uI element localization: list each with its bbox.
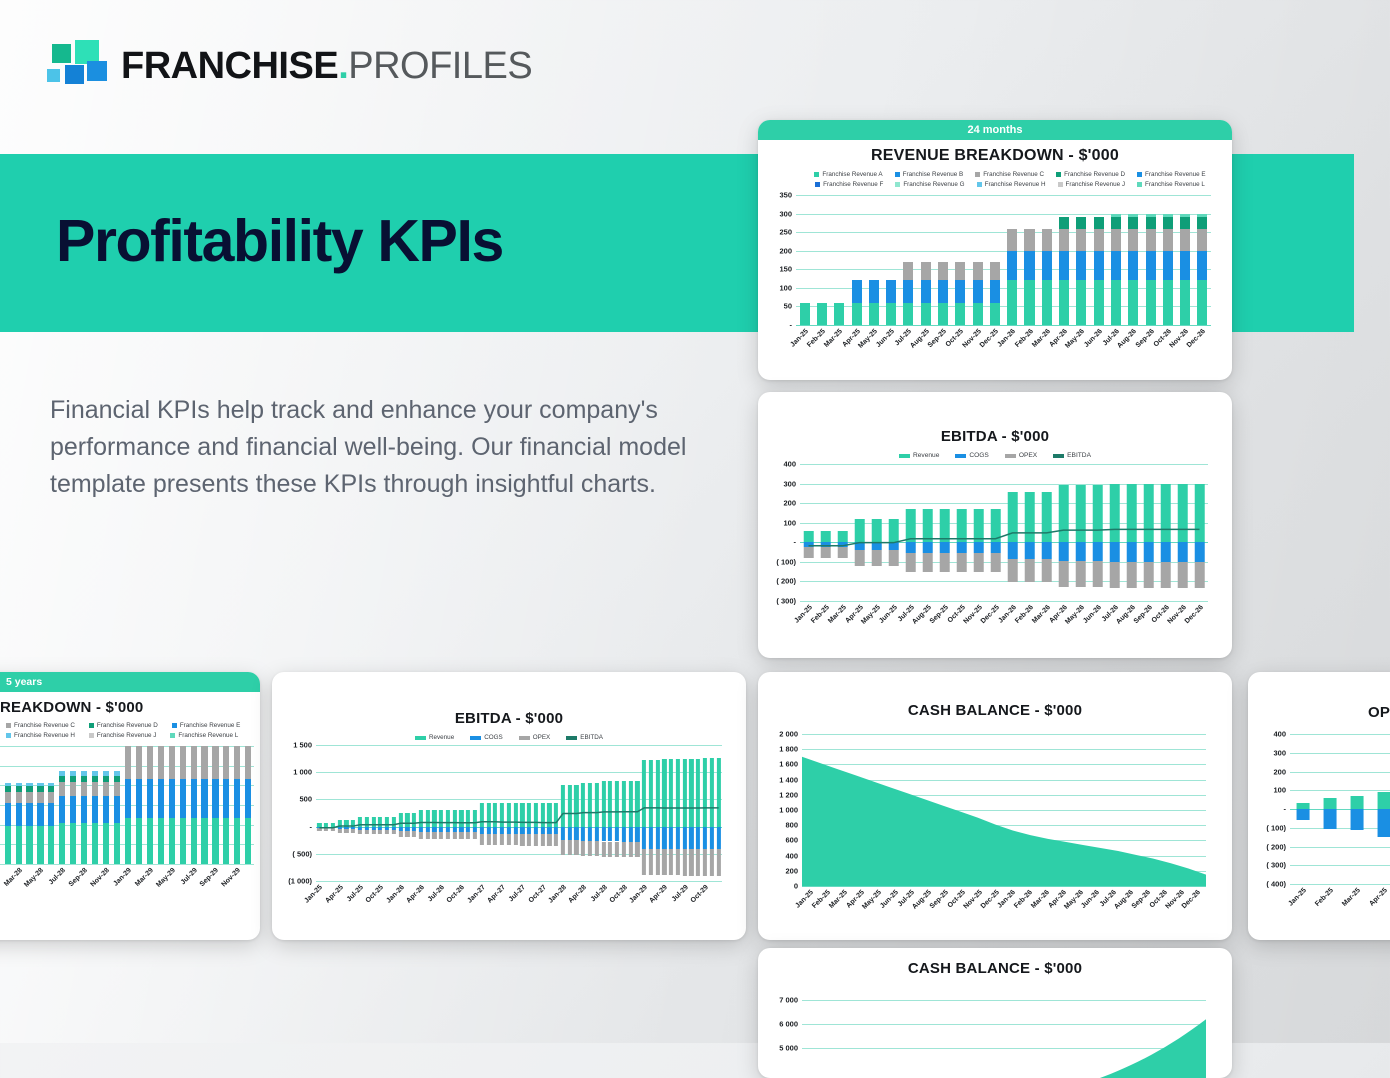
chart-legend: RevenueCOGSOPEXEBITDA bbox=[758, 452, 1232, 459]
x-tick-label: Jan-25 bbox=[304, 884, 325, 905]
bar-column bbox=[1177, 195, 1194, 325]
bar-column bbox=[969, 195, 986, 325]
bar-segment bbox=[1146, 229, 1156, 251]
x-tick-label: Sep-29 bbox=[199, 867, 220, 888]
y-tick-label: 400 bbox=[1273, 730, 1286, 739]
legend-item: Franchise Revenue F bbox=[815, 181, 883, 188]
bar-segment bbox=[81, 782, 87, 796]
bar-column bbox=[934, 195, 951, 325]
bar-column bbox=[1021, 195, 1038, 325]
bar-segment bbox=[136, 818, 142, 864]
bar-column bbox=[1038, 195, 1055, 325]
x-tick-label: Apr-27 bbox=[486, 884, 507, 905]
legend-item: COGS bbox=[470, 734, 503, 741]
bar-column bbox=[900, 195, 917, 325]
bar-segment bbox=[201, 779, 207, 818]
bar-segment bbox=[869, 280, 879, 302]
legend-label: EBITDA bbox=[580, 734, 603, 741]
bar-segment bbox=[1163, 229, 1173, 251]
bar-column bbox=[221, 746, 232, 864]
chart-title: OPE bbox=[1248, 704, 1390, 721]
bar-column bbox=[57, 746, 68, 864]
bar-column bbox=[90, 746, 101, 864]
legend-item: Franchise Revenue A bbox=[814, 171, 882, 178]
x-tick-label: Nov-28 bbox=[90, 867, 111, 888]
bar-segment bbox=[191, 746, 197, 779]
chart-plot: 400300200100-( 100)( 200)( 300)( 400)Jan… bbox=[1290, 734, 1390, 884]
chart-title: EBITDA - $'000 bbox=[758, 428, 1232, 445]
x-tick-label: Mar-25 bbox=[1341, 887, 1362, 908]
bar-segment bbox=[26, 803, 32, 827]
bar-column bbox=[1090, 195, 1107, 325]
bar-segment bbox=[48, 826, 54, 864]
legend-item: Franchise Revenue L bbox=[170, 732, 238, 739]
bar-segment bbox=[1297, 809, 1310, 820]
x-tick-label: Jan-28 bbox=[547, 884, 568, 905]
legend-label: Revenue bbox=[429, 734, 454, 741]
brand-name-dot: . bbox=[338, 45, 348, 87]
bar-segment bbox=[1007, 251, 1017, 281]
brand-name-light: PROFILES bbox=[348, 45, 532, 87]
legend-item: Franchise Revenue C bbox=[6, 722, 75, 729]
bar-segment bbox=[5, 803, 11, 827]
x-tick-label: Apr-25 bbox=[324, 884, 345, 905]
y-tick-label: ( 400) bbox=[1266, 880, 1286, 889]
x-tick-label: Sep-28 bbox=[68, 867, 89, 888]
bar-segment bbox=[1111, 280, 1121, 325]
bar-segment bbox=[103, 782, 109, 796]
bar-segment bbox=[1111, 217, 1121, 230]
bar-column bbox=[1317, 734, 1344, 884]
bar-column bbox=[1055, 195, 1072, 325]
legend-label: Franchise Revenue L bbox=[1145, 181, 1205, 188]
bar-segment bbox=[180, 746, 186, 779]
legend-item: Franchise Revenue D bbox=[1056, 171, 1125, 178]
bar-column bbox=[1125, 195, 1142, 325]
bar-column bbox=[35, 746, 46, 864]
bar-segment bbox=[1180, 229, 1190, 251]
bar-segment bbox=[16, 792, 22, 803]
bar-segment bbox=[938, 262, 948, 281]
bar-column bbox=[882, 195, 899, 325]
bar-segment bbox=[955, 303, 965, 325]
y-tick-label: - bbox=[1284, 805, 1287, 814]
bar-segment bbox=[234, 818, 240, 864]
legend-item: Franchise Revenue H bbox=[6, 732, 75, 739]
brand-logo: FRANCHISE.PROFILES bbox=[47, 40, 532, 92]
legend-swatch bbox=[955, 454, 966, 458]
x-tick-label: Jan-26 bbox=[997, 328, 1018, 349]
legend-item: OPEX bbox=[1005, 452, 1037, 459]
bar-segment bbox=[1076, 251, 1086, 281]
x-tick-label: Oct-28 bbox=[608, 884, 628, 904]
bar-segment bbox=[5, 826, 11, 864]
y-tick-label: 200 bbox=[1273, 767, 1286, 776]
bar-segment bbox=[869, 303, 879, 325]
y-tick-label: ( 100) bbox=[776, 557, 796, 566]
bar-column bbox=[188, 746, 199, 864]
y-tick-label: 50 bbox=[784, 302, 792, 311]
x-tick-label: Mar-28 bbox=[3, 867, 24, 888]
legend-item: Franchise Revenue D bbox=[89, 722, 158, 729]
bar-segment bbox=[852, 303, 862, 325]
x-tick-label: May-28 bbox=[24, 867, 46, 889]
bar-segment bbox=[1146, 217, 1156, 230]
bar-segment bbox=[37, 803, 43, 827]
x-tick-label: Jul-28 bbox=[589, 884, 608, 903]
bar-column bbox=[199, 746, 210, 864]
x-tick-label: May-29 bbox=[155, 867, 177, 889]
y-tick-label: 400 bbox=[785, 851, 798, 860]
bar-segment bbox=[1180, 280, 1190, 325]
bar-segment bbox=[1094, 280, 1104, 325]
legend-item: Revenue bbox=[899, 452, 939, 459]
bar-column bbox=[831, 195, 848, 325]
y-tick-label: ( 100) bbox=[1266, 823, 1286, 832]
bar-column bbox=[177, 746, 188, 864]
bar-segment bbox=[1128, 280, 1138, 325]
bar-column bbox=[133, 746, 144, 864]
legend-label: COGS bbox=[484, 734, 503, 741]
x-tick-label: Mar-29 bbox=[134, 867, 155, 888]
brand-name-bold: FRANCHISE bbox=[121, 45, 338, 87]
bar-segment bbox=[1180, 251, 1190, 281]
bar-column bbox=[952, 195, 969, 325]
bar-segment bbox=[147, 746, 153, 779]
bar-segment bbox=[136, 746, 142, 779]
y-tick-label: 5 000 bbox=[779, 1044, 798, 1053]
bar-group bbox=[1290, 734, 1390, 884]
legend-label: Franchise Revenue B bbox=[903, 171, 964, 178]
bar-segment bbox=[1007, 280, 1017, 325]
bar-segment bbox=[212, 779, 218, 818]
bar-segment bbox=[234, 746, 240, 779]
legend-swatch bbox=[470, 736, 481, 740]
bar-segment bbox=[1094, 217, 1104, 230]
bar-segment bbox=[5, 792, 11, 803]
bar-segment bbox=[921, 280, 931, 302]
y-tick-label: ( 200) bbox=[1266, 842, 1286, 851]
bar-segment bbox=[37, 826, 43, 864]
bar-segment bbox=[973, 280, 983, 302]
legend-swatch bbox=[6, 723, 11, 728]
x-tick-label: Jul-29 bbox=[179, 867, 198, 886]
bar-segment bbox=[1197, 217, 1207, 230]
bar-segment bbox=[886, 303, 896, 325]
bar-segment bbox=[245, 746, 251, 779]
x-tick-label: Oct-25 bbox=[365, 884, 385, 904]
bar-column bbox=[865, 195, 882, 325]
legend-label: Franchise Revenue J bbox=[97, 732, 157, 739]
bar-segment bbox=[1059, 229, 1069, 251]
y-tick-label: 100 bbox=[783, 518, 796, 527]
bar-segment bbox=[180, 818, 186, 864]
legend-label: Franchise Revenue D bbox=[1064, 171, 1125, 178]
x-tick-label: Apr-28 bbox=[568, 884, 589, 905]
chart-title: CASH BALANCE - $'000 bbox=[758, 960, 1232, 977]
x-tick-label: Jul-27 bbox=[508, 884, 527, 903]
legend-item: Franchise Revenue C bbox=[975, 171, 1044, 178]
gridline bbox=[0, 864, 254, 865]
bar-segment bbox=[1076, 217, 1086, 230]
bar-column bbox=[24, 746, 35, 864]
bar-segment bbox=[903, 262, 913, 281]
brand-wordmark: FRANCHISE.PROFILES bbox=[121, 47, 532, 85]
legend-item: Franchise Revenue E bbox=[1137, 171, 1206, 178]
legend-swatch bbox=[977, 182, 982, 187]
card-revenue-breakdown-24m: 24 monthsREVENUE BREAKDOWN - $'000Franch… bbox=[758, 120, 1232, 380]
bar-column bbox=[123, 746, 134, 864]
legend-swatch bbox=[170, 733, 175, 738]
bar-segment bbox=[125, 818, 131, 864]
y-tick-label: ( 300) bbox=[1266, 861, 1286, 870]
legend-label: Franchise Revenue D bbox=[97, 722, 158, 729]
bar-column bbox=[1371, 734, 1390, 884]
card-opex-partial: OPE400300200100-( 100)( 200)( 300)( 400)… bbox=[1248, 672, 1390, 940]
bar-column bbox=[68, 746, 79, 864]
bar-group bbox=[796, 195, 1211, 325]
bar-segment bbox=[990, 303, 1000, 325]
card-revenue-breakdown-5y: 5 yearsREAKDOWN - $'000Franchise Revenue… bbox=[0, 672, 260, 940]
bar-segment bbox=[990, 280, 1000, 302]
bar-segment bbox=[938, 303, 948, 325]
bar-column bbox=[1004, 195, 1021, 325]
bar-segment bbox=[16, 826, 22, 864]
bar-segment bbox=[223, 746, 229, 779]
bar-column bbox=[46, 746, 57, 864]
x-tick-label: Jul-29 bbox=[670, 884, 689, 903]
x-tick-label: Jan-25 bbox=[793, 604, 814, 625]
bar-segment bbox=[990, 262, 1000, 281]
bar-group bbox=[0, 746, 254, 864]
bar-segment bbox=[1024, 280, 1034, 325]
gridline bbox=[796, 325, 1211, 326]
y-tick-label: 200 bbox=[785, 866, 798, 875]
card-cash-balance-5y: CASH BALANCE - $'0007 0006 0005 000 bbox=[758, 948, 1232, 1078]
legend-label: Franchise Revenue H bbox=[985, 181, 1046, 188]
bar-column bbox=[1194, 195, 1211, 325]
legend-label: Franchise Revenue E bbox=[180, 722, 241, 729]
x-tick-label: Oct-29 bbox=[690, 884, 710, 904]
bar-segment bbox=[26, 792, 32, 803]
chart-title: CASH BALANCE - $'000 bbox=[758, 702, 1232, 719]
bar-segment bbox=[1076, 280, 1086, 325]
y-tick-label: 300 bbox=[779, 209, 792, 218]
y-tick-label: 1 000 bbox=[779, 806, 798, 815]
bar-segment bbox=[70, 782, 76, 796]
bar-segment bbox=[169, 779, 175, 818]
gridline bbox=[800, 601, 1208, 602]
y-tick-label: 1 000 bbox=[293, 768, 312, 777]
bar-segment bbox=[921, 262, 931, 281]
y-tick-label: 300 bbox=[1273, 748, 1286, 757]
bar-segment bbox=[1059, 280, 1069, 325]
chart-legend: RevenueCOGSOPEXEBITDA bbox=[272, 734, 746, 741]
bar-segment bbox=[191, 818, 197, 864]
bar-segment bbox=[921, 303, 931, 325]
x-tick-label: Jan-27 bbox=[466, 884, 487, 905]
bar-segment bbox=[92, 796, 98, 823]
bar-segment bbox=[223, 779, 229, 818]
y-tick-label: 150 bbox=[779, 265, 792, 274]
legend-label: COGS bbox=[969, 452, 988, 459]
legend-label: OPEX bbox=[533, 734, 551, 741]
x-tick-label: Jan-29 bbox=[628, 884, 649, 905]
bar-segment bbox=[191, 779, 197, 818]
bar-segment bbox=[973, 262, 983, 281]
bar-segment bbox=[1059, 251, 1069, 281]
bar-column bbox=[101, 746, 112, 864]
page-title: Profitability KPIs bbox=[56, 212, 503, 271]
bar-segment bbox=[26, 826, 32, 864]
bar-segment bbox=[817, 303, 827, 325]
y-tick-label: 0 bbox=[794, 882, 798, 891]
y-tick-label: ( 200) bbox=[776, 577, 796, 586]
legend-swatch bbox=[895, 182, 900, 187]
trend-line bbox=[316, 745, 722, 881]
bar-segment bbox=[1146, 280, 1156, 325]
bar-segment bbox=[59, 782, 65, 796]
bar-segment bbox=[169, 746, 175, 779]
bar-segment bbox=[1111, 251, 1121, 281]
y-tick-label: 500 bbox=[299, 795, 312, 804]
chart-legend: Franchise Revenue AFranchise Revenue BFr… bbox=[758, 171, 1232, 188]
bar-segment bbox=[37, 792, 43, 803]
legend-swatch bbox=[814, 172, 819, 177]
legend-item: Revenue bbox=[415, 734, 454, 741]
y-tick-label: 1 800 bbox=[779, 745, 798, 754]
bar-segment bbox=[1163, 251, 1173, 281]
bar-column bbox=[243, 746, 254, 864]
legend-item: COGS bbox=[955, 452, 988, 459]
legend-swatch bbox=[1137, 172, 1142, 177]
bar-column bbox=[166, 746, 177, 864]
y-tick-label: 7 000 bbox=[779, 996, 798, 1005]
x-tick-label: Jul-28 bbox=[48, 867, 67, 886]
y-tick-label: 800 bbox=[785, 821, 798, 830]
bar-segment bbox=[1059, 217, 1069, 230]
y-tick-label: 300 bbox=[783, 479, 796, 488]
bar-segment bbox=[1163, 217, 1173, 230]
bar-segment bbox=[70, 823, 76, 864]
bar-segment bbox=[1042, 229, 1052, 251]
bar-segment bbox=[158, 779, 164, 818]
bar-segment bbox=[1042, 280, 1052, 325]
bar-segment bbox=[1076, 229, 1086, 251]
bar-segment bbox=[103, 796, 109, 823]
legend-label: OPEX bbox=[1019, 452, 1037, 459]
bar-segment bbox=[59, 823, 65, 864]
bar-segment bbox=[1197, 280, 1207, 325]
chart-banner: 24 months bbox=[758, 120, 1232, 140]
x-tick-label: Oct-27 bbox=[527, 884, 547, 904]
y-tick-label: 600 bbox=[785, 836, 798, 845]
x-tick-label: Feb-25 bbox=[1314, 887, 1335, 908]
trend-line bbox=[800, 464, 1208, 601]
bar-segment bbox=[245, 779, 251, 818]
gridline bbox=[1290, 884, 1390, 885]
bar-segment bbox=[92, 823, 98, 864]
x-tick-label: Feb-26 bbox=[1014, 328, 1035, 349]
chart-plot: 1 5001 000500-( 500)(1 000)Jan-25Apr-25J… bbox=[316, 745, 722, 881]
bar-segment bbox=[169, 818, 175, 864]
bar-segment bbox=[48, 792, 54, 803]
chart-plot: -27Mar-27May-27Jul-27Sep-27Nov-27Jan-28M… bbox=[0, 746, 254, 864]
bar-segment bbox=[201, 818, 207, 864]
bar-column bbox=[144, 746, 155, 864]
bar-column bbox=[1142, 195, 1159, 325]
legend-item: Franchise Revenue G bbox=[895, 181, 964, 188]
bar-segment bbox=[834, 303, 844, 325]
bar-segment bbox=[212, 818, 218, 864]
bar-segment bbox=[125, 779, 131, 818]
chart-plot: 2 0001 8001 6001 4001 2001 0008006004002… bbox=[802, 734, 1206, 886]
bar-column bbox=[232, 746, 243, 864]
bar-column bbox=[1107, 195, 1124, 325]
bar-segment bbox=[114, 782, 120, 796]
y-tick-label: 250 bbox=[779, 228, 792, 237]
bar-segment bbox=[955, 262, 965, 281]
bar-segment bbox=[973, 303, 983, 325]
legend-item: EBITDA bbox=[566, 734, 603, 741]
bar-segment bbox=[245, 818, 251, 864]
bar-segment bbox=[1378, 792, 1390, 809]
bar-column bbox=[112, 746, 123, 864]
bar-segment bbox=[16, 803, 22, 827]
y-tick-label: (1 000) bbox=[288, 877, 312, 886]
legend-item: Franchise Revenue H bbox=[977, 181, 1046, 188]
bar-column bbox=[1290, 734, 1317, 884]
area-series bbox=[802, 988, 1206, 1078]
bar-column bbox=[848, 195, 865, 325]
legend-item: EBITDA bbox=[1053, 452, 1091, 459]
legend-item: Franchise Revenue E bbox=[172, 722, 241, 729]
bar-segment bbox=[158, 818, 164, 864]
x-tick-label: Nov-29 bbox=[221, 867, 242, 888]
bar-segment bbox=[103, 823, 109, 864]
legend-label: EBITDA bbox=[1067, 452, 1091, 459]
y-tick-label: - bbox=[790, 321, 793, 330]
bar-segment bbox=[180, 779, 186, 818]
chart-plot: 400300200100-( 100)( 200)( 300)Jan-25Feb… bbox=[800, 464, 1208, 601]
bar-segment bbox=[234, 779, 240, 818]
bar-segment bbox=[955, 280, 965, 302]
x-tick-label: Apr-26 bbox=[405, 884, 426, 905]
bar-segment bbox=[114, 796, 120, 823]
legend-label: Franchise Revenue J bbox=[1066, 181, 1126, 188]
chart-banner: 5 years bbox=[0, 672, 260, 692]
bar-segment bbox=[1180, 217, 1190, 230]
y-tick-label: - bbox=[794, 538, 797, 547]
bar-segment bbox=[1024, 251, 1034, 281]
bar-column bbox=[13, 746, 24, 864]
legend-swatch bbox=[975, 172, 980, 177]
gridline bbox=[316, 881, 722, 882]
legend-swatch bbox=[1053, 454, 1064, 458]
x-tick-label: Dec-26 bbox=[1186, 328, 1207, 349]
bar-segment bbox=[70, 796, 76, 823]
bar-column bbox=[986, 195, 1003, 325]
bar-column bbox=[1344, 734, 1371, 884]
legend-swatch bbox=[415, 736, 426, 740]
y-tick-label: 1 500 bbox=[293, 741, 312, 750]
bar-segment bbox=[1146, 251, 1156, 281]
bar-segment bbox=[1324, 798, 1337, 809]
bar-segment bbox=[1042, 251, 1052, 281]
y-tick-label: 400 bbox=[783, 460, 796, 469]
bar-segment bbox=[938, 280, 948, 302]
legend-swatch bbox=[1056, 172, 1061, 177]
